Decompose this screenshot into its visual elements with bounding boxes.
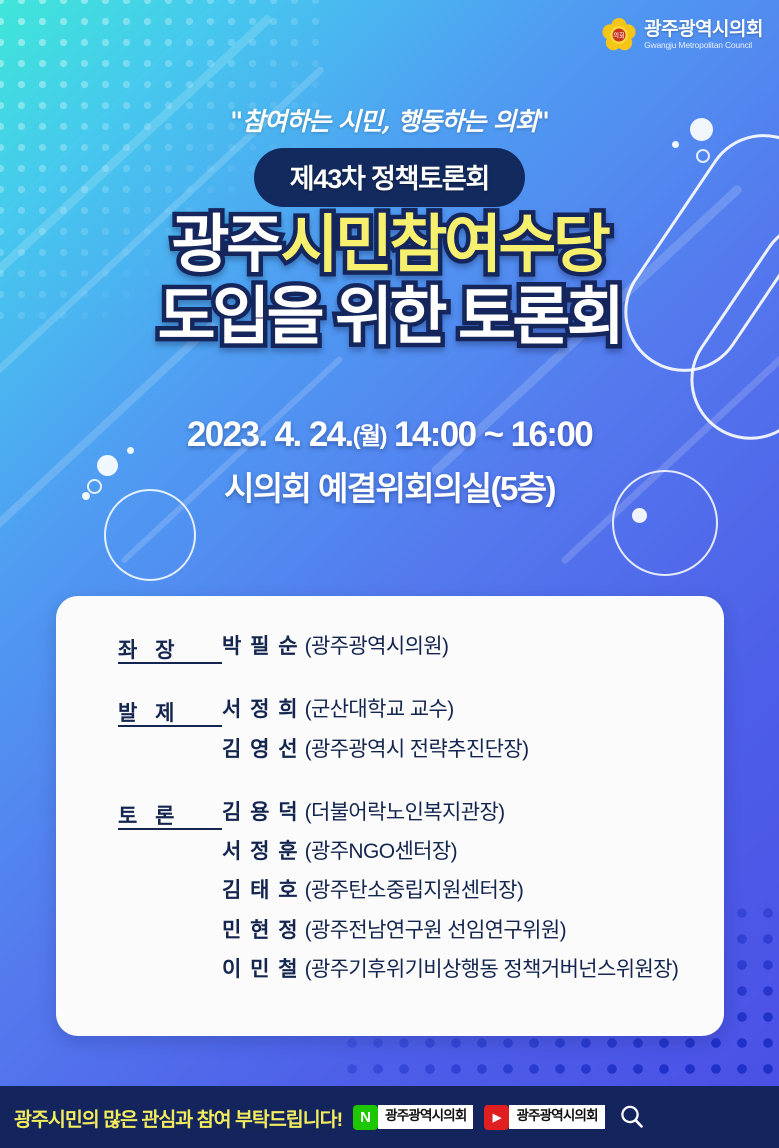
person-name: 서 정 훈 (222, 840, 299, 863)
youtube-play-icon: ▶ (484, 1105, 509, 1130)
people-list: 서 정 희 (군산대학교 교수) 김 영 선 (광주광역시 전략추진단장) (222, 697, 724, 776)
program-group-discussants: 토 론 김 용 덕 (더불어락노인복지관장) 서 정 훈 (광주NGO센터장) … (56, 800, 724, 996)
emblem-center-label: 의회 (613, 31, 625, 40)
person-name: 김 용 덕 (222, 801, 299, 824)
event-time: 14:00 ~ 16:00 (394, 415, 592, 454)
youtube-channel-label: 광주광역시의회 (509, 1105, 604, 1129)
person-row: 서 정 희 (군산대학교 교수) (222, 697, 724, 723)
role-label: 좌 장 (118, 634, 222, 664)
light-streak (120, 355, 343, 564)
person-affiliation: (광주NGO센터장) (305, 840, 457, 863)
program-panel: 좌 장 박 필 순 (광주광역시의원) 발 제 서 정 희 (군산대학교 교수)… (56, 596, 724, 1036)
event-poster: 의회 광주광역시의회 Gwangju Metropolitan Council … (0, 0, 779, 1148)
person-row: 김 용 덕 (더불어락노인복지관장) (222, 800, 724, 826)
page-title: 광주시민참여수당 도입을 위한 토론회 (0, 213, 779, 350)
title-part-white: 광주 (172, 210, 281, 280)
person-affiliation: (광주광역시의원) (305, 635, 449, 658)
footer-bar: 광주시민의 많은 관심과 참여 부탁드립니다! N 광주광역시의회 ▶ 광주광역… (0, 1086, 779, 1148)
event-weekday: (월) (353, 423, 386, 450)
decor-dot (632, 508, 647, 523)
council-name-ko: 광주광역시의회 (644, 20, 763, 39)
youtube-channel-chip[interactable]: ▶ 광주광역시의회 (484, 1105, 604, 1130)
person-name: 박 필 순 (222, 635, 299, 658)
event-datetime: 2023. 4. 24.(월) 14:00 ~ 16:00 (0, 415, 779, 455)
person-name: 민 현 정 (222, 919, 299, 942)
person-name: 서 정 희 (222, 698, 299, 721)
session-badge-wrap: 제43차 정책토론회 (0, 148, 779, 207)
person-row: 서 정 훈 (광주NGO센터장) (222, 839, 724, 865)
role-label: 발 제 (118, 697, 222, 727)
council-flower-emblem-icon: 의회 (602, 18, 636, 52)
role-label: 토 론 (118, 800, 222, 830)
person-row: 김 영 선 (광주광역시 전략추진단장) (222, 737, 724, 763)
person-row: 민 현 정 (광주전남연구원 선임연구위원) (222, 918, 724, 944)
person-row: 김 태 호 (광주탄소중립지원센터장) (222, 878, 724, 904)
event-date: 2023. 4. 24. (187, 415, 353, 454)
naver-channel-chip[interactable]: N 광주광역시의회 (353, 1105, 473, 1130)
council-name-en: Gwangju Metropolitan Council (644, 41, 763, 50)
people-list: 김 용 덕 (더불어락노인복지관장) 서 정 훈 (광주NGO센터장) 김 태 … (222, 800, 724, 996)
council-logo: 의회 광주광역시의회 Gwangju Metropolitan Council (602, 18, 763, 52)
people-list: 박 필 순 (광주광역시의원) (222, 634, 724, 673)
naver-channel-label: 광주광역시의회 (378, 1105, 473, 1129)
title-line-2: 도입을 위한 토론회 (0, 285, 779, 349)
search-magnifier-icon[interactable] (618, 1103, 646, 1131)
person-row: 박 필 순 (광주광역시의원) (222, 634, 724, 660)
person-affiliation: (군산대학교 교수) (305, 698, 454, 721)
person-affiliation: (광주전남연구원 선임연구위원) (305, 919, 566, 942)
person-name: 김 영 선 (222, 738, 299, 761)
person-affiliation: (더불어락노인복지관장) (305, 801, 505, 824)
person-name: 이 민 철 (222, 958, 299, 981)
person-name: 김 태 호 (222, 879, 299, 902)
person-row: 이 민 철 (광주기후위기비상행동 정책거버넌스위원장) (222, 957, 724, 983)
session-badge: 제43차 정책토론회 (254, 148, 525, 207)
slogan: "참여하는 시민, 행동하는 의회" (0, 102, 779, 138)
decor-dot (672, 141, 679, 148)
event-venue: 시의회 예결위회의실(5층) (0, 462, 779, 510)
person-affiliation: (광주광역시 전략추진단장) (305, 738, 529, 761)
program-group-chair: 좌 장 박 필 순 (광주광역시의원) (56, 634, 724, 673)
title-part-yellow: 시민참여수당 (281, 210, 608, 280)
program-group-presenters: 발 제 서 정 희 (군산대학교 교수) 김 영 선 (광주광역시 전략추진단장… (56, 697, 724, 776)
person-affiliation: (광주기후위기비상행동 정책거버넌스위원장) (305, 958, 679, 981)
person-affiliation: (광주탄소중립지원센터장) (305, 879, 524, 902)
footer-message: 광주시민의 많은 관심과 참여 부탁드립니다! (14, 1103, 342, 1132)
naver-n-icon: N (353, 1105, 378, 1130)
council-logo-text: 광주광역시의회 Gwangju Metropolitan Council (644, 20, 763, 50)
title-line-1: 광주시민참여수당 (0, 213, 779, 277)
